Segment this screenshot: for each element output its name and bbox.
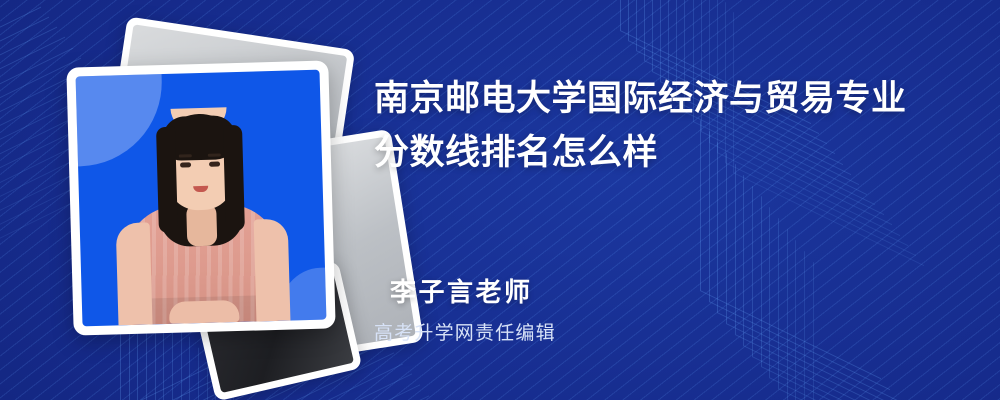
author-role: 高考升学网责任编辑 [374, 318, 556, 345]
portrait-hair-side-left [156, 127, 178, 233]
portrait-neck [186, 204, 217, 247]
author-name: 李子言老师 [390, 272, 533, 309]
author-photo [76, 70, 327, 327]
banner-title-line-2: 分数线排名怎么样 [374, 126, 954, 180]
author-portrait-illustration [109, 106, 295, 326]
portrait-arm-left [116, 222, 153, 325]
article-cover-banner: 南京邮电大学国际经济与贸易专业 分数线排名怎么样 李子言老师 高考升学网责任编辑 [0, 0, 1000, 400]
portrait-eye-right [209, 161, 220, 166]
portrait-arm-right [254, 219, 291, 322]
banner-text-column: 南京邮电大学国际经济与贸易专业 分数线排名怎么样 李子言老师 高考升学网责任编辑 [374, 0, 974, 400]
portrait-hands [169, 300, 240, 324]
portrait-hair-side-right [223, 125, 245, 231]
portrait-eyebrow-right [208, 153, 221, 156]
portrait-eye-left [180, 162, 191, 167]
photo-card-stack [52, 28, 352, 373]
portrait-eyebrow-left [179, 154, 192, 157]
banner-title-line-1: 南京邮电大学国际经济与贸易专业 [374, 72, 954, 126]
author-photo-card [66, 60, 335, 335]
banner-title: 南京邮电大学国际经济与贸易专业 分数线排名怎么样 [374, 72, 954, 180]
